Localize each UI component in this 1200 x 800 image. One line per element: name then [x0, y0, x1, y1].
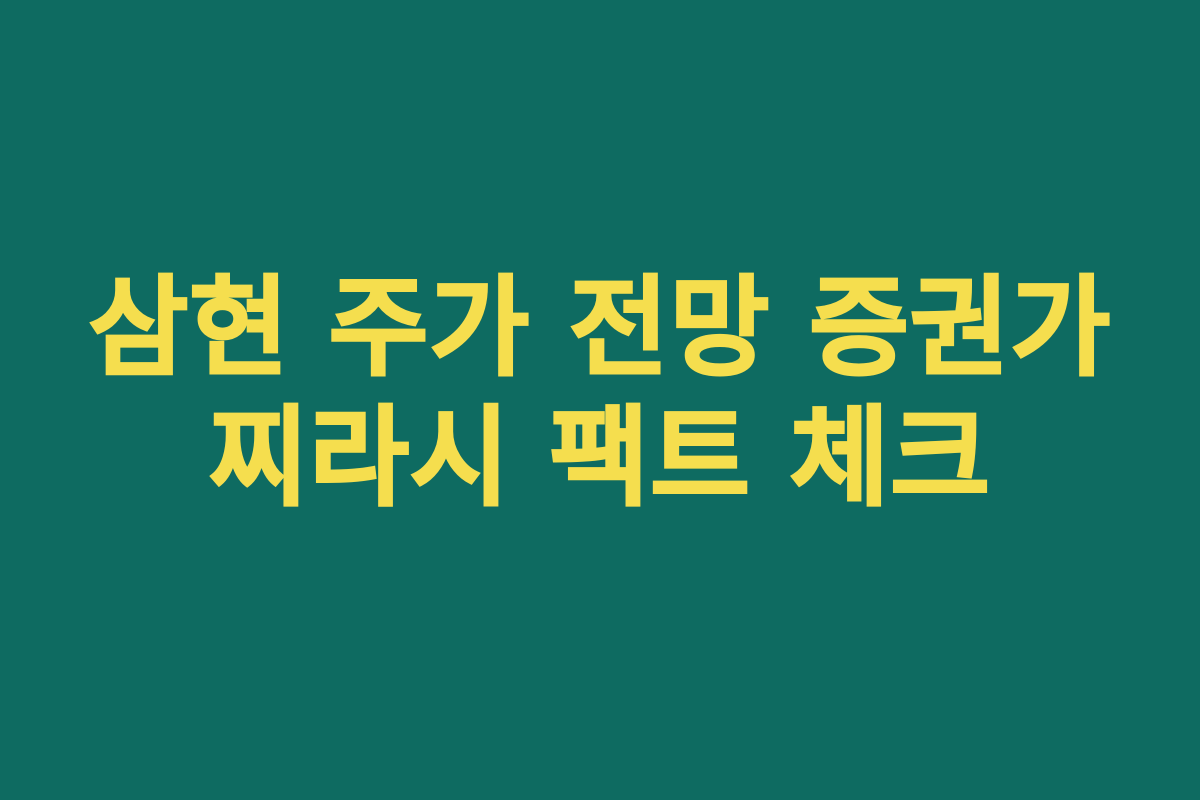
headline-block: 삼현 주가 전망 증권가 찌라시 팩트 체크 — [0, 262, 1200, 522]
headline-line-2: 찌라시 팩트 체크 — [40, 396, 1160, 522]
thumbnail-canvas: 삼현 주가 전망 증권가 찌라시 팩트 체크 — [0, 0, 1200, 800]
headline-line-1: 삼현 주가 전망 증권가 — [40, 262, 1160, 396]
